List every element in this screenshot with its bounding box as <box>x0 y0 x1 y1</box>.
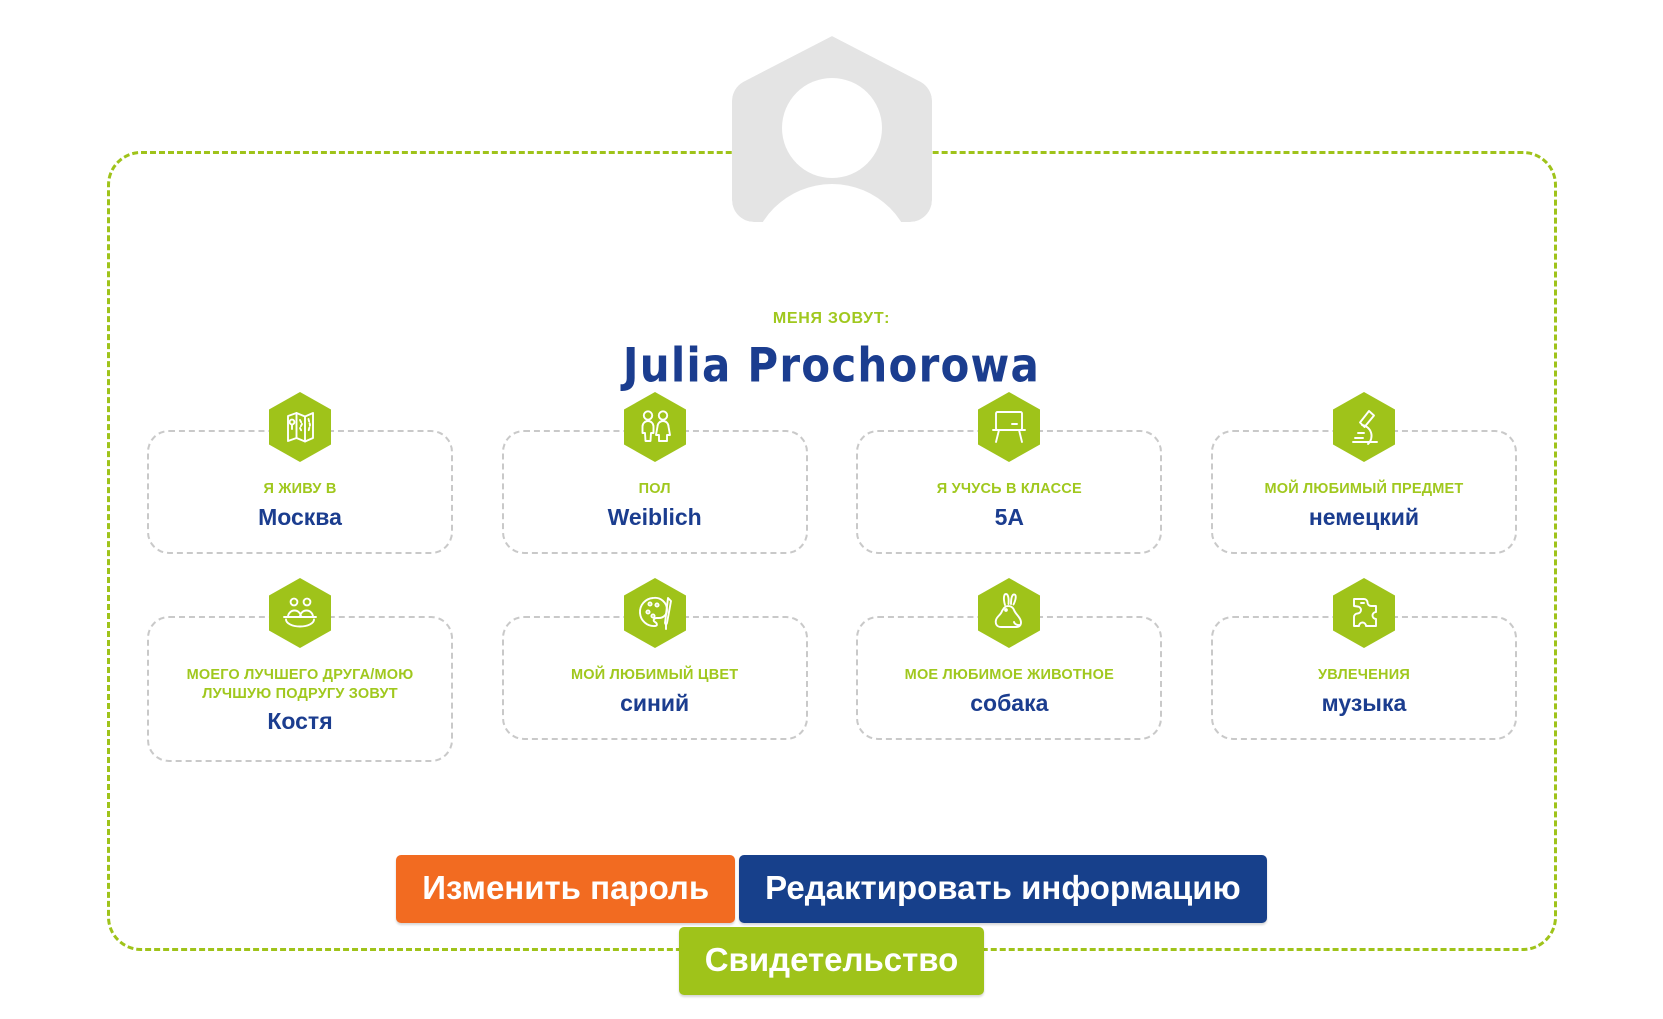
info-card-animal: Мое любимое животное собака <box>856 616 1162 762</box>
info-card-value: немецкий <box>1309 504 1419 530</box>
action-buttons: Изменить пароль Редактировать информацию… <box>0 855 1663 995</box>
friends-icon <box>269 578 331 648</box>
action-buttons-row-2: Свидетельство <box>0 927 1663 995</box>
greeting-label: Меня зовут: <box>0 310 1663 328</box>
gender-icon <box>624 392 686 462</box>
info-card-value: Weiblich <box>608 504 702 530</box>
chalkboard-icon <box>978 392 1040 462</box>
puzzle-icon <box>1333 578 1395 648</box>
info-card-value: Москва <box>258 504 342 530</box>
avatar <box>725 34 939 224</box>
info-card-value: собака <box>970 690 1048 716</box>
rabbit-icon <box>978 578 1040 648</box>
info-card-subject: Мой любимый предмет немецкий <box>1211 430 1517 554</box>
palette-icon <box>624 578 686 648</box>
profile-info-grid: Я живу в Москва Пол Weiblich <box>107 430 1557 762</box>
info-card-gender: Пол Weiblich <box>502 430 808 554</box>
info-card-color: Мой любимый цвет синий <box>502 616 808 762</box>
info-card-value: синий <box>620 690 689 716</box>
avatar-silhouette-icon <box>732 36 932 224</box>
info-card-label: Моего лучшего друга/мою лучшую подругу з… <box>163 666 437 703</box>
info-card-class: Я учусь в классе 5А <box>856 430 1162 554</box>
edit-info-button[interactable]: Редактировать информацию <box>739 855 1267 923</box>
info-card-label: Мой любимый цвет <box>571 666 738 685</box>
certificate-button[interactable]: Свидетельство <box>679 927 985 995</box>
map-icon <box>269 392 331 462</box>
user-name: Julia Prochorowa <box>0 338 1663 393</box>
profile-info-row-1: Я живу в Москва Пол Weiblich <box>107 430 1557 554</box>
info-card-label: Мое любимое животное <box>905 666 1114 685</box>
info-card-label: Я учусь в классе <box>937 480 1082 499</box>
profile-info-row-2: Моего лучшего друга/мою лучшую подругу з… <box>107 616 1557 762</box>
action-buttons-row-1: Изменить пароль Редактировать информацию <box>0 855 1663 923</box>
page-title: Меня зовут: Julia Prochorowa <box>0 310 1663 387</box>
info-card-label: Мой любимый предмет <box>1264 480 1463 499</box>
info-card-city: Я живу в Москва <box>147 430 453 554</box>
info-card-value: 5А <box>995 504 1024 530</box>
microscope-icon <box>1333 392 1395 462</box>
info-card-value: музыка <box>1322 690 1407 716</box>
change-password-button[interactable]: Изменить пароль <box>396 855 735 923</box>
info-card-value: Костя <box>267 708 332 734</box>
info-card-label: Я живу в <box>263 480 336 499</box>
info-card-label: Пол <box>639 480 671 499</box>
info-card-label: Увлечения <box>1318 666 1410 685</box>
info-card-hobbies: Увлечения музыка <box>1211 616 1517 762</box>
info-card-best-friend: Моего лучшего друга/мою лучшую подругу з… <box>147 616 453 762</box>
